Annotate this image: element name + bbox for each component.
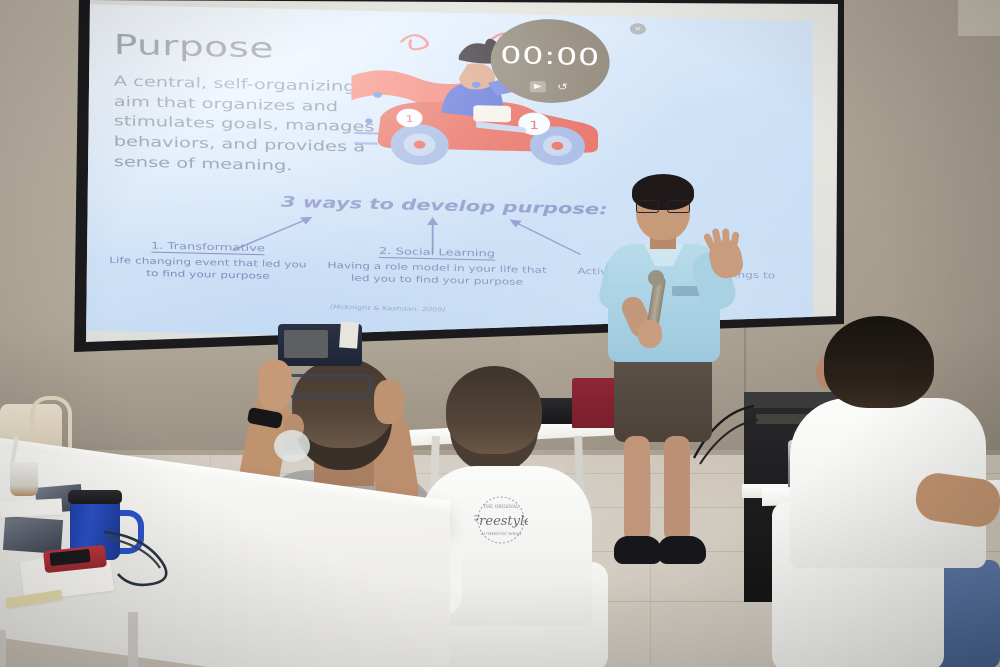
glasses-on-head-icon [280,374,372,398]
photographer-hand-right [374,380,404,424]
photo-card [3,516,63,554]
wall-panel [958,0,1000,37]
charging-cable [96,520,216,590]
slide-title: Purpose [114,29,274,64]
presenter-shirt-logo [672,286,700,296]
table-leg [128,612,138,667]
audience-right [788,316,1000,667]
mug-lid [68,490,122,504]
timer-play-icon[interactable]: ▶ [530,81,546,93]
presentation-room-photo: Purpose A central, self-organizing life … [0,0,1000,667]
svg-text:THE ORIGINAL: THE ORIGINAL [483,504,519,510]
svg-text:1: 1 [529,119,539,132]
timer-reset-icon[interactable]: ↺ [555,82,571,94]
slide-column-2-text: Having a role model in your life that le… [327,260,546,287]
presenter-shoe-right [658,536,706,564]
timer-display: 00:00 [500,43,600,72]
photographer-hand-left [258,360,292,410]
face-mask [274,430,310,462]
paper-sheet [0,498,62,517]
camera-screen [284,330,328,358]
close-icon[interactable]: × [630,23,646,35]
presenter-hand-left [638,320,662,348]
svg-text:Freestyle: Freestyle [474,514,528,529]
svg-text:1: 1 [405,114,413,125]
tshirt-script-logo: THE ORIGINAL Freestyle AUTHENTIC WEAR [474,494,528,546]
plastic-cup [10,462,38,496]
svg-text:AUTHENTIC WEAR: AUTHENTIC WEAR [480,531,522,536]
slide-column-1: 1. Transformative Life changing event th… [102,239,314,283]
table-leg [0,630,6,667]
presenter-shorts [614,356,712,442]
slide-column-2: 2. Social Learning Having a role model i… [320,244,555,289]
presenter-leg-left [624,436,650,542]
person-hair [446,366,542,454]
person-hair [824,316,934,408]
glasses-icon [636,200,690,211]
presenter-leg-right [664,436,690,542]
presenter-shoe-left [614,536,662,564]
camera-tag-label [339,321,359,348]
slide-column-1-text: Life changing event that led you to find… [109,254,306,280]
presenter [600,178,740,598]
